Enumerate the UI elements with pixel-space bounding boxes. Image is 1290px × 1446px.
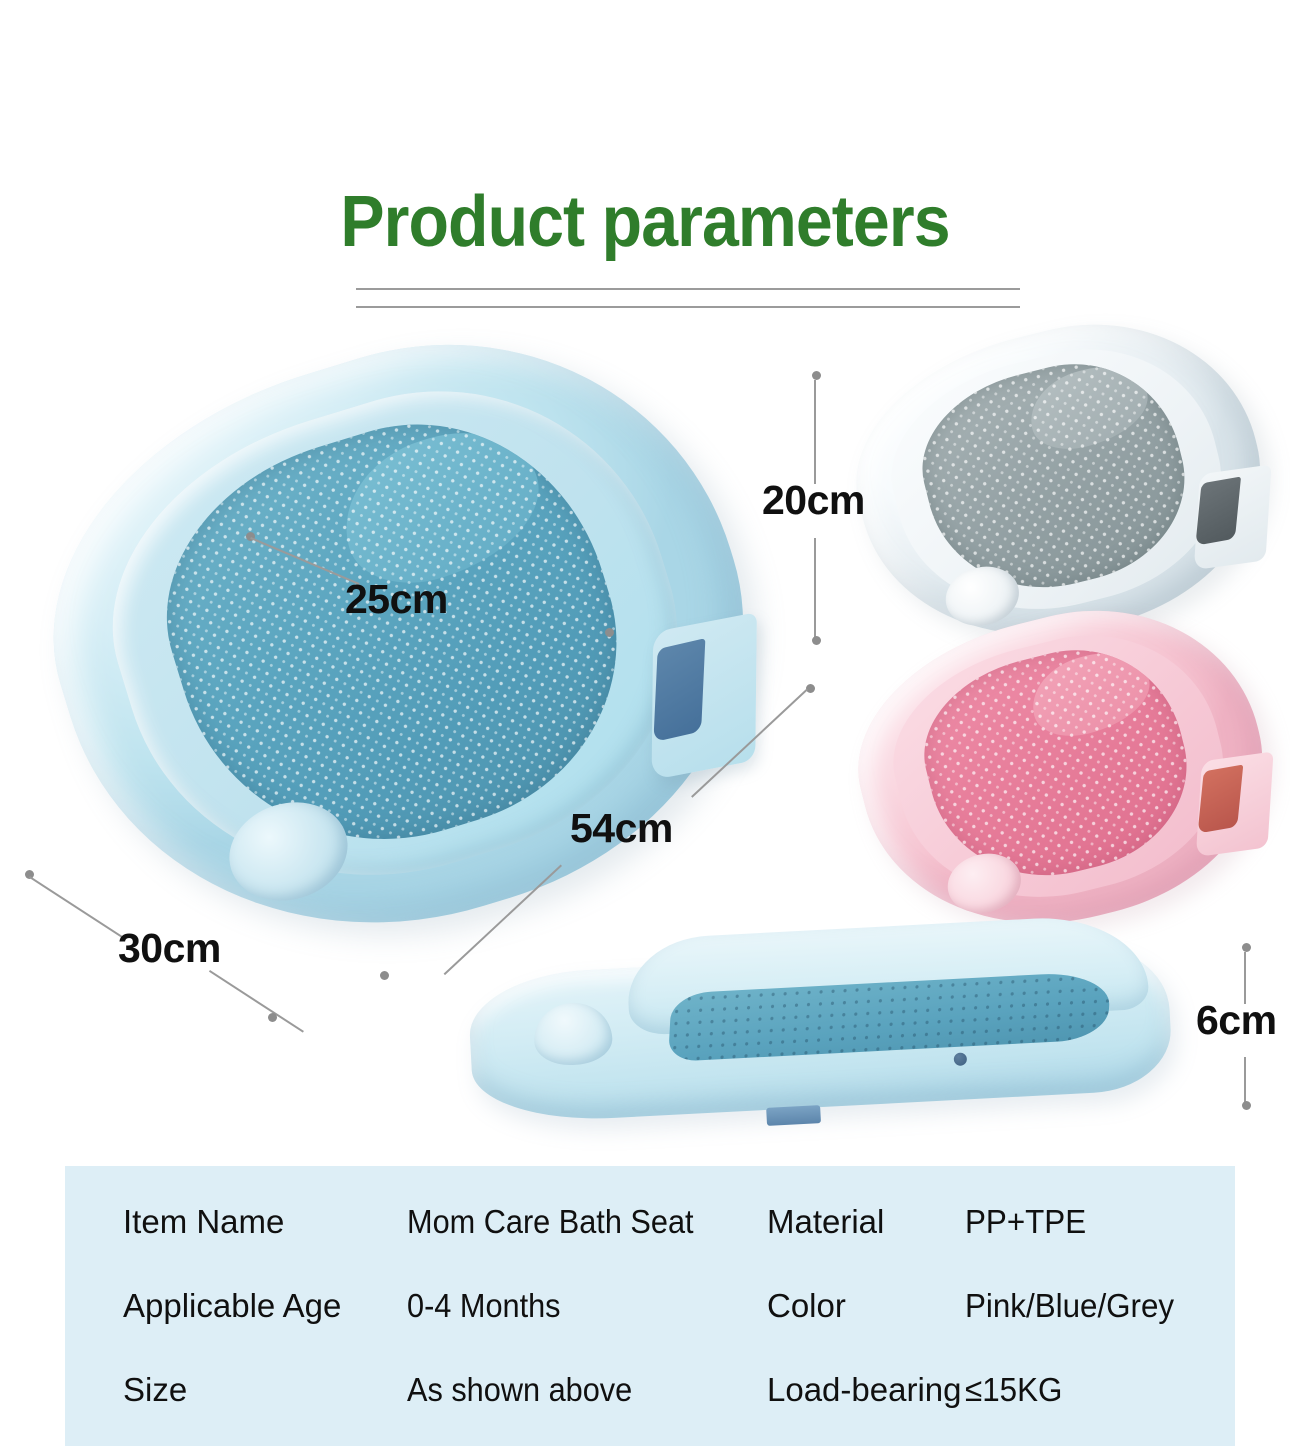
product-image-bath-seat-folded: [465, 912, 1174, 1143]
dimension-dot-20cm-bottom: [812, 636, 821, 645]
product-photo-stage: 25cm 20cm 54cm 30cm 6cm: [0, 300, 1290, 1170]
dimension-dot-25cm-end: [605, 628, 614, 637]
spec-label-item-name: Item Name: [123, 1186, 284, 1258]
table-row: Item Name Mom Care Bath Seat Material PP…: [65, 1186, 1235, 1258]
folded-seat-latch: [766, 1105, 821, 1126]
seat-headrest: [1021, 356, 1156, 458]
spec-label-material: Material: [767, 1186, 884, 1258]
dimension-line-6cm-lower: [1244, 1057, 1246, 1105]
spec-value-applicable-age: 0-4 Months: [407, 1270, 561, 1342]
spec-value-load-bearing: ≤15KG: [965, 1354, 1062, 1426]
dimension-dot-6cm-bottom: [1242, 1101, 1251, 1110]
spec-value-size: As shown above: [407, 1354, 632, 1426]
spec-value-item-name: Mom Care Bath Seat: [407, 1186, 694, 1258]
spec-value-material: PP+TPE: [965, 1186, 1086, 1258]
dimension-label-20cm: 20cm: [762, 477, 865, 524]
dimension-label-6cm: 6cm: [1196, 997, 1277, 1044]
dimension-line-20cm-lower: [814, 538, 816, 638]
spec-label-applicable-age: Applicable Age: [123, 1270, 341, 1342]
specification-table: Item Name Mom Care Bath Seat Material PP…: [65, 1166, 1235, 1446]
table-row: Applicable Age 0-4 Months Color Pink/Blu…: [65, 1270, 1235, 1342]
dimension-dot-30cm-bottom: [268, 1013, 277, 1022]
spec-label-size: Size: [123, 1354, 187, 1426]
dimension-label-25cm: 25cm: [345, 576, 448, 623]
dimension-line-30cm-lower: [209, 970, 304, 1033]
seat-folding-leg: [632, 612, 777, 779]
spec-label-load-bearing: Load-bearing: [767, 1354, 962, 1426]
spec-label-color: Color: [767, 1270, 846, 1342]
dimension-dot-54cm-bottom: [380, 971, 389, 980]
page-title: Product parameters: [52, 186, 1239, 258]
seat-headrest: [325, 412, 557, 602]
table-row: Size As shown above Load-bearing ≤15KG: [65, 1354, 1235, 1426]
dimension-label-30cm: 30cm: [118, 925, 221, 972]
seat-headrest: [1023, 643, 1158, 746]
title-divider-top: [356, 288, 1020, 290]
dimension-line-30cm-upper: [29, 876, 124, 939]
leg-inner-bracket: [653, 638, 705, 742]
spec-value-color: Pink/Blue/Grey: [965, 1270, 1174, 1342]
product-image-bath-seat-blue: [0, 271, 809, 1005]
dimension-dot-20cm-top: [812, 371, 821, 380]
seat-folding-leg: [1186, 464, 1280, 571]
dimension-dot-6cm-top: [1242, 943, 1251, 952]
title-block: Product parameters: [0, 186, 1290, 258]
dimension-line-20cm-upper: [814, 380, 816, 484]
seat-folding-leg: [1188, 751, 1282, 858]
dimension-label-54cm: 54cm: [570, 805, 673, 852]
